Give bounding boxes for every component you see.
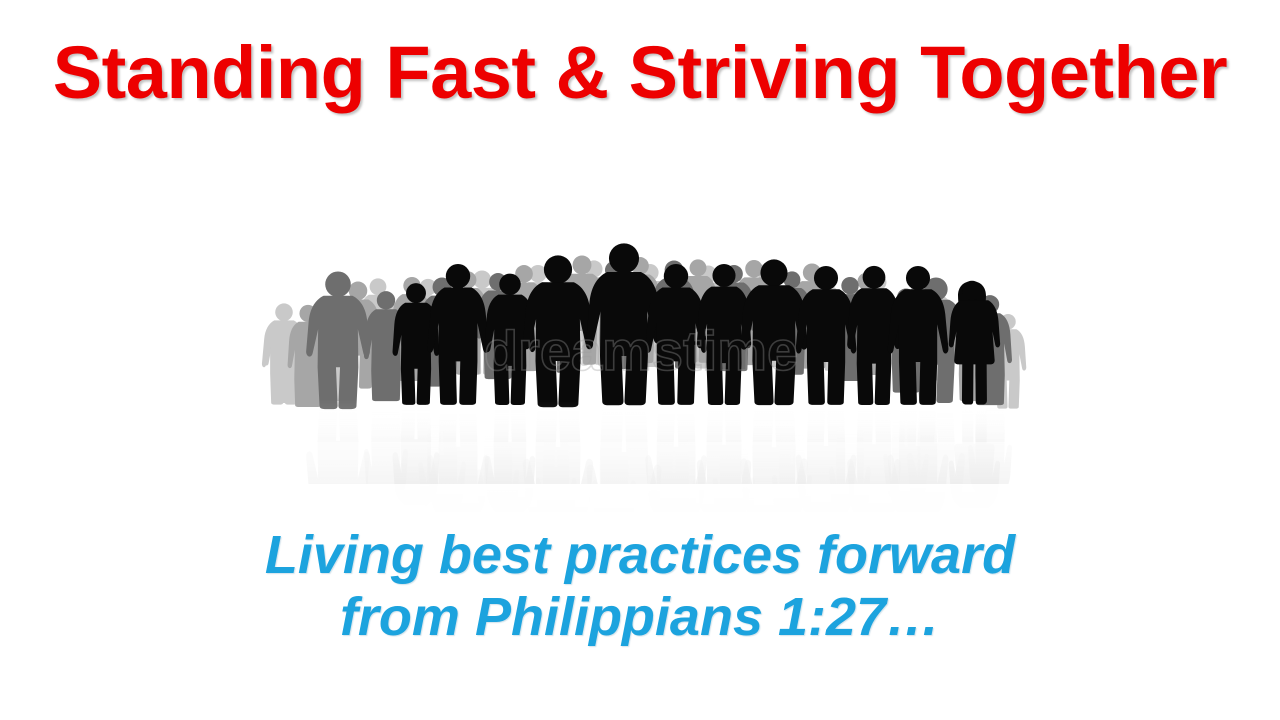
crowd-illustration: dreamstime — [246, 112, 1036, 512]
watermark-text: dreamstime — [484, 319, 798, 382]
subtitle-line-2: from Philippians 1:27… — [0, 586, 1280, 648]
subtitle-block: Living best practices forward from Phili… — [0, 524, 1280, 648]
crowd-silhouette-image: dreamstime — [246, 112, 1036, 512]
subtitle-line-1: Living best practices forward — [0, 524, 1280, 586]
slide-canvas: Standing Fast & Striving Together — [0, 0, 1280, 720]
page-title: Standing Fast & Striving Together — [0, 30, 1280, 116]
